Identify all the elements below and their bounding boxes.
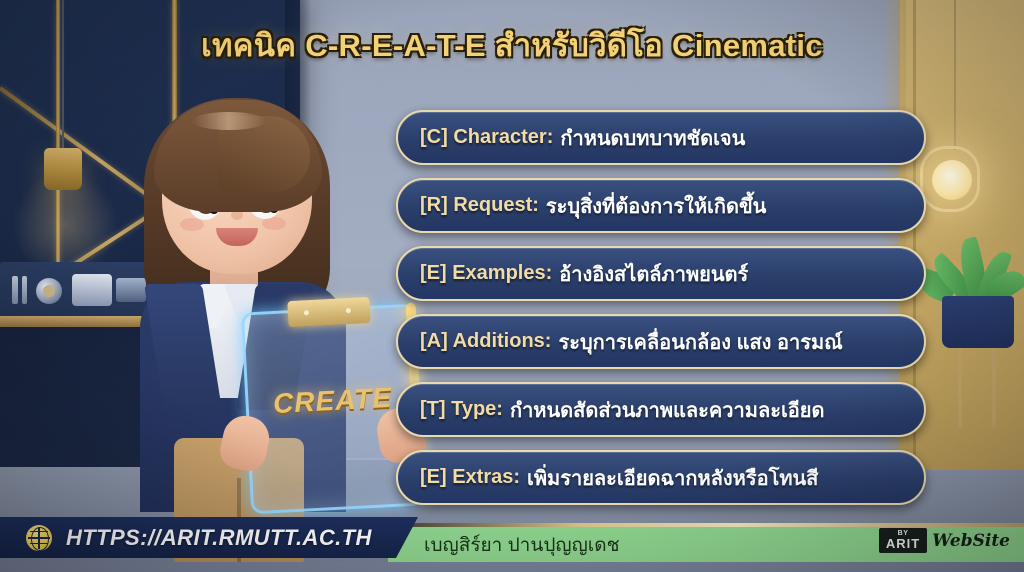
create-framework-list: [C] Character: กำหนดบทบาทชัดเจน [R] Requ…	[396, 110, 926, 505]
list-item-key: [C] Character:	[420, 126, 553, 149]
list-item-key: [R] Request:	[420, 194, 539, 217]
bottom-strip	[0, 562, 1024, 572]
camera-lens-icon	[36, 278, 62, 304]
pendant-lamp-left	[44, 148, 82, 190]
plant-stand-leg	[958, 348, 962, 428]
list-item-text: ระบุการเคลื่อนกล้อง แสง อารมณ์	[558, 326, 842, 358]
cheek-blush	[180, 218, 204, 231]
plant-pot	[942, 296, 1014, 348]
pendant-lamp-bulb-right	[932, 160, 972, 200]
equipment-item	[22, 276, 27, 304]
list-item[interactable]: [R] Request: ระบุสิ่งที่ต้องการให้เกิดขึ…	[396, 178, 926, 233]
list-item-text: เพิ่มรายละเอียดฉากหลังหรือโทนสี	[527, 462, 818, 494]
list-item[interactable]: [A] Additions: ระบุการเคลื่อนกล้อง แสง อ…	[396, 314, 926, 369]
list-item[interactable]: [C] Character: กำหนดบทบาทชัดเจน	[396, 110, 926, 165]
arit-logo-box: BY ARIT	[879, 528, 927, 553]
list-item-key: [E] Extras:	[420, 466, 520, 489]
website-url-banner[interactable]: HTTPS://ARIT.RMUTT.AC.TH	[0, 517, 418, 558]
hair-highlight	[192, 112, 266, 130]
arit-website-logo[interactable]: BY ARIT WebSite	[879, 528, 1010, 553]
brand-arit-label: ARIT	[886, 537, 920, 550]
equipment-item	[12, 276, 18, 304]
list-item[interactable]: [E] Extras: เพิ่มรายละเอียดฉากหลังหรือโท…	[396, 450, 926, 505]
list-item-text: อ้างอิงสไตล์ภาพยนตร์	[559, 258, 748, 290]
presenter-character: CREATE	[96, 86, 396, 506]
list-item-text: กำหนดบทบาทชัดเจน	[560, 122, 745, 154]
plant-stand-leg	[992, 348, 996, 428]
list-item-text: ระบุสิ่งที่ต้องการให้เกิดขึ้น	[546, 190, 766, 222]
list-item[interactable]: [T] Type: กำหนดสัดส่วนภาพและความละเอียด	[396, 382, 926, 437]
list-item-key: [A] Additions:	[420, 330, 551, 353]
list-item-text: กำหนดสัดส่วนภาพและความละเอียด	[510, 394, 825, 426]
list-item-key: [E] Examples:	[420, 262, 552, 285]
speaker-name: เบญสิร์ยา ปานปุญญเดช	[424, 530, 620, 560]
clipboard-clip	[287, 297, 370, 327]
list-item[interactable]: [E] Examples: อ้างอิงสไตล์ภาพยนตร์	[396, 246, 926, 301]
website-url-text: HTTPS://ARIT.RMUTT.AC.TH	[66, 525, 372, 551]
slide-canvas: CREATE เทคนิค C-R-E-A-T-E สำหรับวิดีโอ C…	[0, 0, 1024, 572]
list-item-key: [T] Type:	[420, 398, 503, 421]
brand-website-label: WebSite	[932, 531, 1010, 551]
slide-title: เทคนิค C-R-E-A-T-E สำหรับวิดีโอ Cinemati…	[0, 20, 1024, 70]
globe-icon	[26, 525, 52, 551]
